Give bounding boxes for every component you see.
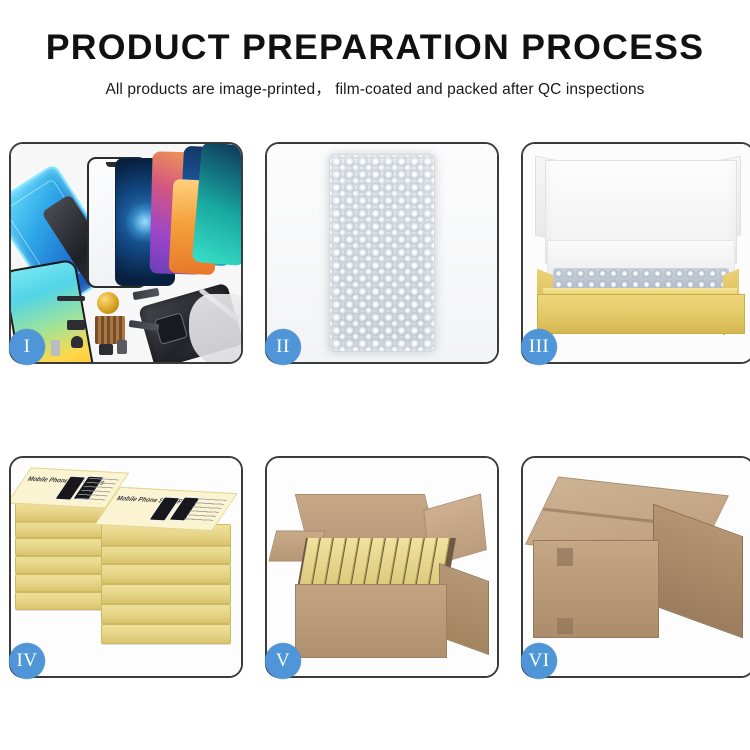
spare-part-small-1 [67, 320, 85, 330]
spare-part-strip-1 [57, 296, 85, 301]
step-badge-4: IV [9, 643, 45, 679]
page-header: PRODUCT PREPARATION PROCESS All products… [0, 0, 750, 99]
scene-sealed-carton [523, 458, 750, 676]
stacked-box-r3 [101, 584, 231, 604]
speaker-part [71, 336, 83, 348]
carton-front-panel [295, 584, 447, 658]
step-badge-2: II [265, 329, 301, 365]
step-image-3 [523, 144, 750, 362]
scene-bubble-wrap [267, 144, 497, 362]
step-image-1 [11, 144, 241, 362]
step-image-2 [267, 144, 497, 362]
bubble-wrapped-product [329, 154, 435, 352]
step-card-1[interactable]: I [9, 142, 243, 364]
button-part [117, 340, 127, 354]
sim-tray [51, 340, 60, 356]
carton-front-face [533, 540, 659, 638]
step-image-5 [267, 458, 497, 676]
flex-cable-1 [133, 288, 160, 300]
carton-right-panel [653, 504, 743, 639]
step-card-3[interactable]: III [521, 142, 750, 364]
stacked-box-r5 [101, 544, 231, 564]
kraft-box-front [537, 294, 745, 334]
step-image-4: Mobile Phone Spare Parts Mobile Phone Sp… [11, 458, 241, 676]
camera-module [99, 344, 113, 355]
scene-inner-box [523, 144, 750, 362]
step-badge-5: V [265, 643, 301, 679]
step-card-6[interactable]: VI [521, 456, 750, 678]
step-badge-3: III [521, 329, 557, 365]
scene-stacked-boxes: Mobile Phone Spare Parts Mobile Phone Sp… [11, 458, 241, 676]
step-badge-6: VI [521, 643, 557, 679]
box-label-right: Mobile Phone Spare Parts [94, 487, 237, 531]
step-card-4[interactable]: Mobile Phone Spare Parts Mobile Phone Sp… [9, 456, 243, 678]
gold-connector-part [97, 292, 119, 314]
stacked-box-r2 [101, 604, 231, 624]
sealed-carton [531, 486, 745, 656]
scene-carton-filling [267, 458, 497, 676]
step-card-2[interactable]: II [265, 142, 499, 364]
page-title: PRODUCT PREPARATION PROCESS [0, 30, 750, 67]
stacked-box-r4 [101, 564, 231, 584]
step-card-5[interactable]: V [265, 456, 499, 678]
box-stack: Mobile Phone Spare Parts Mobile Phone Sp… [15, 476, 239, 666]
technician-hand [189, 294, 241, 362]
stacked-box-r1 [101, 624, 231, 644]
process-steps-grid: I II III [9, 142, 741, 678]
scene-phone-parts [11, 144, 241, 362]
page-subtitle: All products are image-printed， film-coa… [0, 67, 750, 99]
carton-handle-notch-top [557, 548, 573, 566]
step-image-6 [523, 458, 750, 676]
open-carton [273, 488, 491, 658]
step-badge-1: I [9, 329, 45, 365]
carton-handle-notch-bottom [557, 618, 573, 634]
